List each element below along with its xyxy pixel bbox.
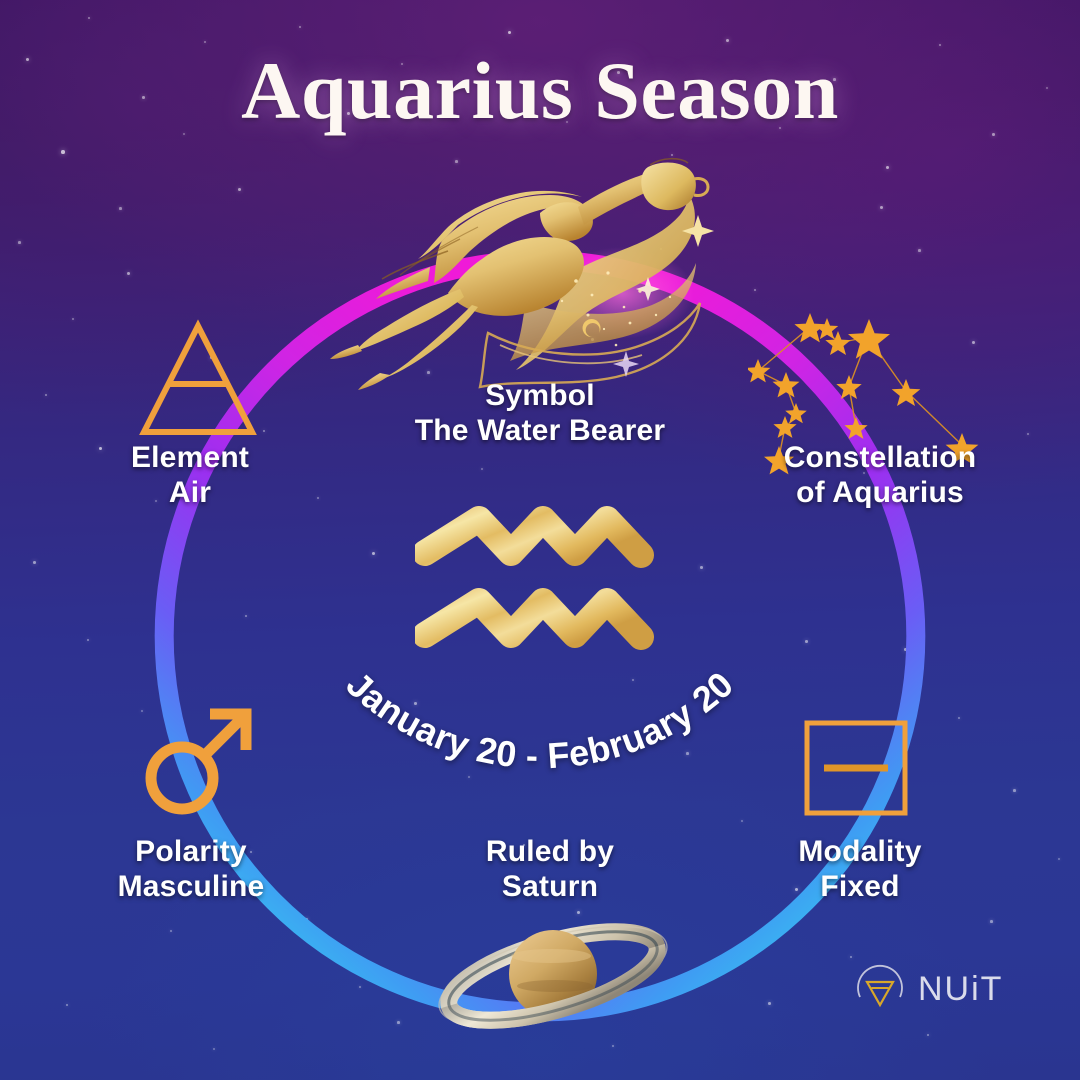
star — [299, 26, 301, 28]
fact-symbol: Symbol The Water Bearer — [340, 378, 740, 449]
poster-canvas: January 20 - February 20 — [0, 0, 1080, 1080]
star — [958, 717, 960, 719]
star — [88, 17, 90, 19]
star — [87, 639, 89, 641]
star — [213, 1048, 215, 1050]
star — [119, 207, 122, 210]
fact-ruler: Ruled by Saturn — [410, 834, 690, 905]
star — [18, 241, 21, 244]
star — [45, 394, 47, 396]
fact-polarity-value: Masculine — [58, 869, 324, 904]
star — [66, 1004, 68, 1006]
fact-modality-value: Fixed — [740, 869, 980, 904]
star — [726, 39, 729, 42]
star — [1013, 789, 1016, 792]
fact-constellation: Constellation of Aquarius — [730, 440, 1030, 511]
date-range-text: January 20 - February 20 — [339, 663, 741, 776]
star — [127, 272, 130, 275]
star — [612, 1045, 614, 1047]
fact-symbol-value: The Water Bearer — [340, 413, 740, 448]
fact-modality-title: Modality — [798, 835, 921, 868]
star — [1058, 858, 1060, 860]
date-range-arc: January 20 - February 20 — [300, 600, 780, 860]
star — [1027, 433, 1029, 435]
saturn-planet-icon — [438, 912, 668, 1040]
fact-ruler-title: Ruled by — [486, 835, 614, 868]
star — [927, 1034, 929, 1036]
fact-element: Element Air — [60, 440, 320, 511]
fact-modality: Modality Fixed — [740, 834, 980, 905]
fixed-square-icon — [802, 718, 910, 818]
star — [886, 166, 889, 169]
air-triangle-icon — [138, 318, 258, 440]
star — [238, 188, 241, 191]
brand-name: NUiT — [918, 970, 1003, 1009]
star — [61, 150, 65, 154]
fact-ruler-value: Saturn — [410, 869, 690, 904]
page-title: Aquarius Season — [0, 44, 1080, 138]
star — [33, 561, 36, 564]
star — [204, 41, 206, 43]
star — [880, 206, 883, 209]
fact-element-title: Element — [131, 441, 249, 474]
star — [508, 31, 511, 34]
mars-symbol-icon — [138, 702, 258, 822]
brand-logo[interactable]: NUiT — [854, 958, 1034, 1020]
water-bearer-illustration — [330, 155, 750, 390]
fact-polarity: Polarity Masculine — [58, 834, 324, 905]
fact-constellation-title: Constellation — [784, 441, 977, 474]
fact-polarity-title: Polarity — [135, 835, 247, 868]
fact-element-value: Air — [60, 475, 320, 510]
star — [990, 920, 993, 923]
fact-symbol-title: Symbol — [485, 379, 595, 412]
nuit-triangle-logo-icon — [854, 963, 906, 1015]
fact-constellation-value: of Aquarius — [730, 475, 1030, 510]
star — [72, 318, 74, 320]
